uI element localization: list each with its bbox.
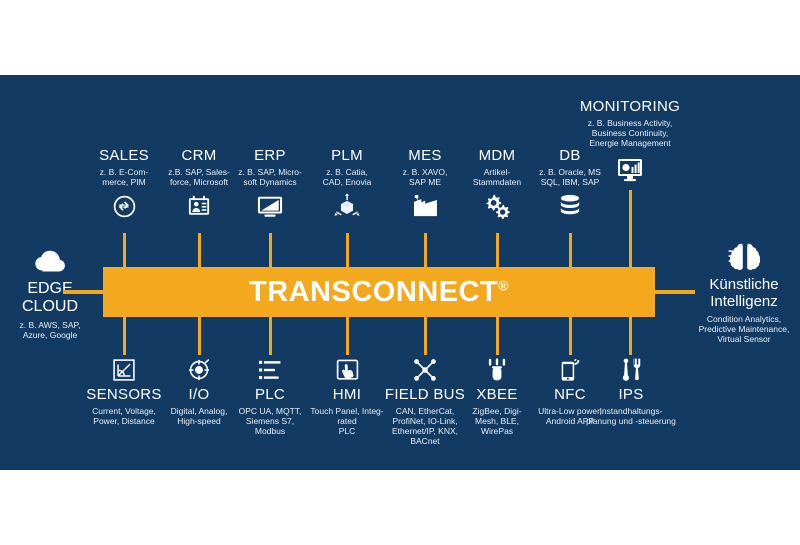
bottom-item-ips: IPS Instandhaltungs-planung und -steueru… xyxy=(572,355,690,426)
trademark-symbol: ® xyxy=(498,277,509,293)
connector-xbee xyxy=(496,315,499,355)
ai-title-line2: Intelligenz xyxy=(710,293,778,310)
database-icon xyxy=(527,191,613,221)
connector-plm xyxy=(346,233,349,269)
connector-left xyxy=(63,290,107,294)
connector-sales xyxy=(123,233,126,269)
ai-subtitle: Condition Analytics,Predictive Maintenan… xyxy=(688,314,800,345)
connector-crm xyxy=(198,233,201,269)
monitoring-title: MONITORING xyxy=(560,98,700,115)
connector-io xyxy=(198,315,201,355)
connector-plc xyxy=(269,315,272,355)
top-item-subtitle: z. B. SAP, Micro-soft Dynamics xyxy=(227,167,313,187)
edge-cloud-title-line1: EDGE xyxy=(27,280,72,297)
monitor-icon xyxy=(227,191,313,221)
top-item-title: PLM xyxy=(304,148,390,164)
bottom-item-title: SENSORS xyxy=(81,387,167,403)
connector-db xyxy=(569,233,572,269)
connector-sensors xyxy=(123,315,126,355)
bottom-item-title: IPS xyxy=(572,387,690,403)
connector-mes xyxy=(424,233,427,269)
bottom-item-subtitle: Current, Voltage,Power, Distance xyxy=(81,406,167,426)
ai-title: Künstliche Intelligenz xyxy=(688,276,800,311)
connector-nfc xyxy=(569,315,572,355)
bottom-item-plc: PLC OPC UA, MQTT,Siemens S7,Modbus xyxy=(227,355,313,436)
connector-right xyxy=(651,290,695,294)
connector-erp xyxy=(269,233,272,269)
ai-brain-icon xyxy=(688,240,800,272)
cloud-icon xyxy=(4,246,96,276)
ai-block: Künstliche Intelligenz Condition Analyti… xyxy=(688,240,800,344)
bottom-item-subtitle: OPC UA, MQTT,Siemens S7,Modbus xyxy=(227,406,313,437)
top-item-title: ERP xyxy=(227,148,313,164)
top-item-plm: PLM z. B. Catia,CAD, Enovia xyxy=(304,148,390,221)
top-item-subtitle: z. B. E-Com-merce, PIM xyxy=(81,167,167,187)
edge-cloud-title: EDGE CLOUD xyxy=(4,280,96,316)
edge-cloud-title-line2: CLOUD xyxy=(22,298,78,315)
connector-monitoring xyxy=(629,190,632,269)
top-item-subtitle: z. B. Catia,CAD, Enovia xyxy=(304,167,390,187)
connector-mdm xyxy=(496,233,499,269)
top-item-subtitle: z. B. Oracle, MSSQL, IBM, SAP xyxy=(527,167,613,187)
cube-3d-icon xyxy=(304,191,390,221)
tools-icon xyxy=(572,355,690,385)
connector-fieldbus xyxy=(424,315,427,355)
ai-title-line1: Künstliche xyxy=(709,276,778,293)
monitoring-subtitle: z. B. Business Activity,Business Continu… xyxy=(560,118,700,149)
top-item-erp: ERP z. B. SAP, Micro-soft Dynamics xyxy=(227,148,313,221)
top-item-title: DB xyxy=(527,148,613,164)
exchange-circle-icon xyxy=(81,191,167,221)
connector-hmi xyxy=(346,315,349,355)
edge-cloud-subtitle: z. B. AWS, SAP,Azure, Google xyxy=(4,320,96,340)
top-item-title: SALES xyxy=(81,148,167,164)
bottom-item-subtitle: Instandhaltungs-planung und -steuerung xyxy=(572,406,690,426)
bottom-item-sensors: SENSORS Current, Voltage,Power, Distance xyxy=(81,355,167,426)
sliders-icon xyxy=(227,355,313,385)
top-item-sales: SALES z. B. E-Com-merce, PIM xyxy=(81,148,167,221)
bottom-item-title: PLC xyxy=(227,387,313,403)
diagram-canvas: EDGE CLOUD z. B. AWS, SAP,Azure, Google … xyxy=(0,0,800,545)
banner-product-name: TRANSCONNECT xyxy=(249,276,498,308)
connector-ips xyxy=(629,315,632,355)
top-item-db: DB z. B. Oracle, MSSQL, IBM, SAP xyxy=(527,148,613,221)
banner-label: TRANSCONNECT® xyxy=(249,278,509,307)
transconnect-banner[interactable]: TRANSCONNECT® xyxy=(103,267,655,317)
sensor-icon xyxy=(81,355,167,385)
